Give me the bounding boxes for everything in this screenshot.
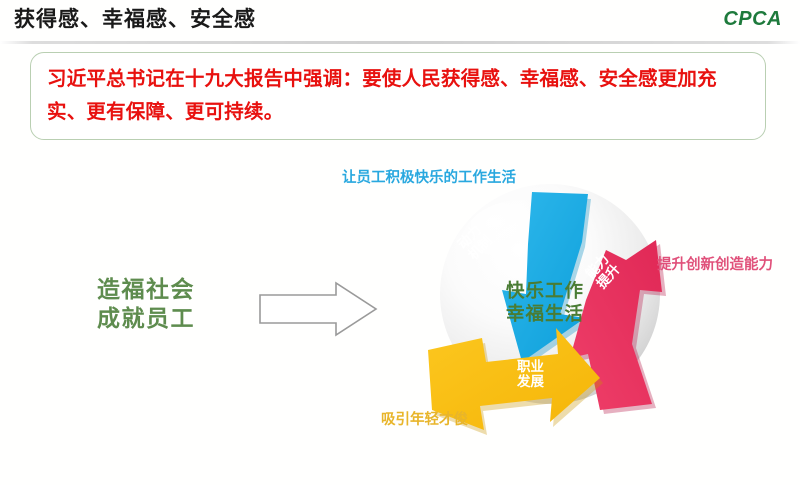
right-arrow-outline-icon — [258, 281, 378, 337]
left-message-block: 造福社会 成就员工 — [97, 276, 195, 334]
outer-label-capability: 提升创新创造能力 — [657, 253, 773, 274]
slide-canvas: 获得感、幸福感、安全感 CPCA 习近平总书记在十九大报告中强调：要使人民获得感… — [0, 0, 800, 485]
header-divider — [0, 41, 800, 44]
left-message-line-1: 造福社会 — [97, 276, 195, 305]
page-title: 获得感、幸福感、安全感 — [14, 3, 256, 33]
cpca-logo: CPCA — [723, 8, 782, 31]
outer-label-career: 吸引年轻才俊 — [381, 408, 468, 429]
cycle-diagram: 动力 机制 能力 提升 职业 发展 快乐工作 幸福生活 — [410, 172, 700, 440]
left-message-line-2: 成就员工 — [97, 305, 195, 334]
slide-header: 获得感、幸福感、安全感 CPCA — [0, 0, 800, 42]
outer-label-motivation: 让员工积极快乐的工作生活 — [342, 166, 516, 187]
quote-callout-box: 习近平总书记在十九大报告中强调：要使人民获得感、幸福感、安全感更加充实、更有保障… — [30, 52, 766, 140]
quote-text: 习近平总书记在十九大报告中强调：要使人民获得感、幸福感、安全感更加充实、更有保障… — [47, 62, 753, 128]
